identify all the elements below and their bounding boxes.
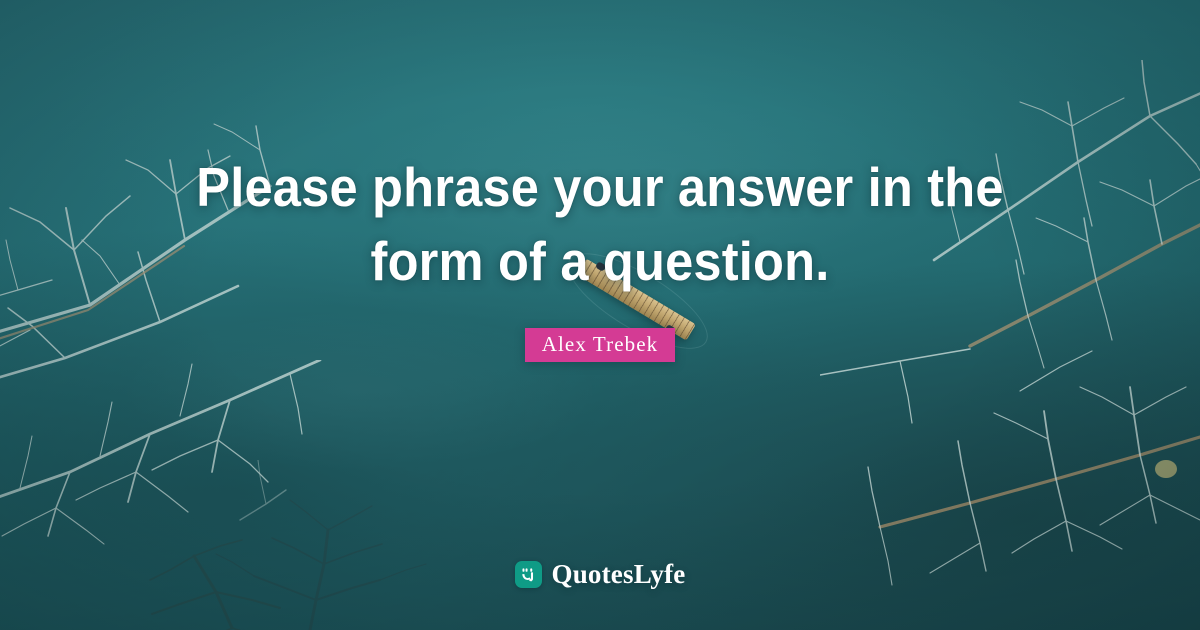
quote-card: Please phrase your answer in the form of… (0, 0, 1200, 630)
quote-text: Please phrase your answer in the form of… (158, 150, 1041, 298)
author-badge: Alex Trebek (525, 328, 676, 362)
card-content: Please phrase your answer in the form of… (0, 0, 1200, 630)
